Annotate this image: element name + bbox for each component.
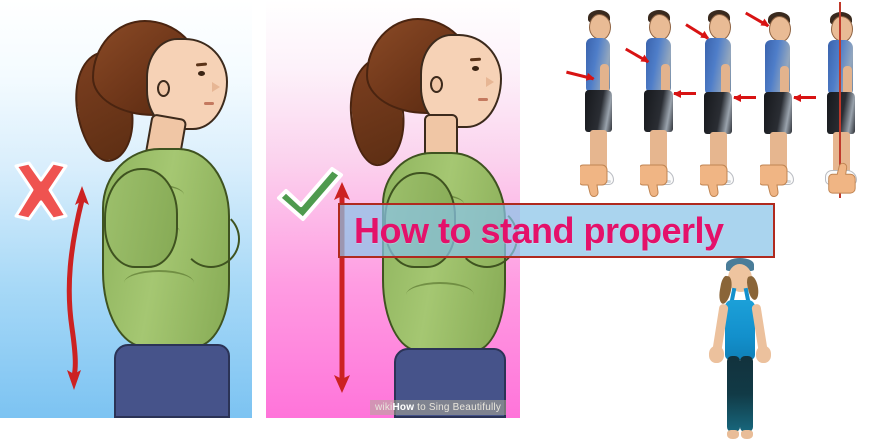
thumbs-up-icon-5	[824, 160, 858, 196]
male-figure-3	[690, 2, 746, 202]
poster-canvas: wikiHow to Sing Beautifully	[0, 0, 875, 445]
male-posture-comparison-strip	[566, 2, 875, 202]
standing-woman-photo	[690, 258, 790, 445]
page-title: How to stand properly	[340, 210, 724, 252]
thumbs-down-icon-1	[580, 162, 614, 198]
posture-arrow-3a	[685, 23, 709, 39]
male-figure-4	[750, 2, 806, 202]
thumbs-down-icon-4	[760, 162, 794, 198]
posture-arrow-4a	[745, 12, 769, 28]
male-figure-2	[630, 2, 686, 202]
slouched-woman-figure	[62, 0, 252, 418]
thumbs-down-icon-3	[700, 162, 734, 198]
thumbs-down-icon-2	[640, 162, 674, 198]
male-figure-5	[812, 2, 868, 202]
male-figure-1	[570, 2, 626, 202]
wikihow-watermark: wikiHow to Sing Beautifully	[370, 400, 506, 415]
watermark-prefix: wiki	[375, 402, 392, 413]
incorrect-posture-panel	[0, 0, 252, 418]
watermark-brand: How	[392, 402, 414, 413]
title-banner: How to stand properly	[338, 203, 775, 258]
watermark-suffix: to Sing Beautifully	[414, 402, 501, 413]
